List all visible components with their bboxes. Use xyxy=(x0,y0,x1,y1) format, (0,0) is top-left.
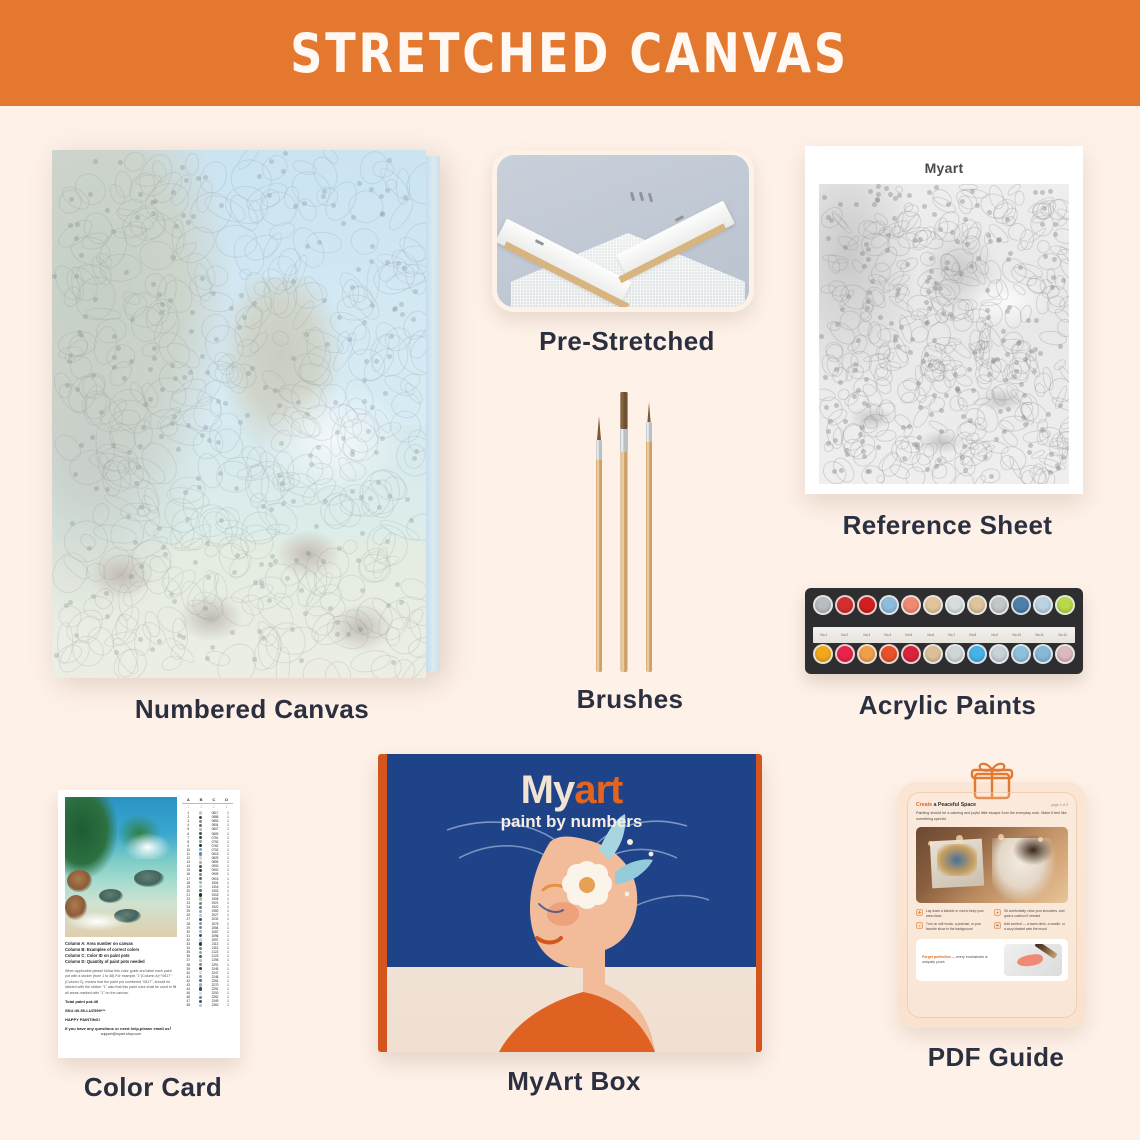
canvas-number-segments xyxy=(52,150,426,678)
tip-icon: ♪ xyxy=(916,922,923,929)
cell-color-swatch xyxy=(194,959,206,962)
cell-color-swatch xyxy=(194,832,206,835)
paint-tray: No.1No.2No.3No.4No.5No.6No.7No.8No.9No.1… xyxy=(805,588,1083,674)
caption-acrylic-paints: Acrylic Paints xyxy=(805,690,1090,721)
paint-pot xyxy=(857,644,877,664)
brushes-image xyxy=(545,382,715,672)
paint-pot-label: No.6 xyxy=(927,633,934,637)
cell-color-swatch xyxy=(194,987,206,990)
pdf-guide-page: Create a Peaceful Space page 1 of 3 Pain… xyxy=(907,792,1077,1018)
paint-pot xyxy=(923,644,943,664)
cell-color-swatch xyxy=(194,922,206,925)
pdf-tip-item: ✦Sit comfortably, relax your shoulders, … xyxy=(994,909,1067,919)
photo-bokeh xyxy=(1038,837,1043,842)
cell-color-swatch xyxy=(194,992,206,995)
cell-color-swatch xyxy=(194,906,206,909)
color-card-left-column: Column A: Area number on canvas Column B… xyxy=(65,797,177,1051)
cell-color-swatch xyxy=(194,951,206,954)
pdf-heading-accent: Create xyxy=(916,802,932,808)
caption-numbered-canvas: Numbered Canvas xyxy=(52,694,452,725)
brush-flat xyxy=(617,390,629,672)
product-acrylic-paints: No.1No.2No.3No.4No.5No.6No.7No.8No.9No.1… xyxy=(805,588,1090,721)
paint-pot-label: No.10 xyxy=(1012,633,1021,637)
cell-quantity: 1 xyxy=(223,1003,233,1007)
cell-color-swatch xyxy=(194,893,206,896)
color-card-paper: Column A: Area number on canvas Column B… xyxy=(58,790,240,1058)
logo-art-text: art xyxy=(574,768,622,812)
product-color-card: Column A: Area number on canvas Column B… xyxy=(58,790,248,1103)
photo-rock xyxy=(134,870,163,887)
cell-color-swatch xyxy=(194,938,206,941)
photo-artwork xyxy=(937,844,977,876)
box-tagline: paint by numbers xyxy=(387,812,756,832)
tip-icon: ✦ xyxy=(994,909,1001,916)
arrow-down-icon: ↓ xyxy=(220,805,233,810)
happy-painting-text: HAPPY PAINTING! xyxy=(65,1017,177,1023)
canvas-image xyxy=(52,150,440,678)
brush-round-small xyxy=(593,414,605,672)
product-reference-sheet: Myart Reference Sheet xyxy=(805,146,1090,541)
tip-text: Sit comfortably, relax your shoulders, a… xyxy=(1004,909,1067,919)
cell-color-swatch xyxy=(194,1000,206,1003)
table-header-row: A B C D xyxy=(182,797,233,804)
color-card-row: 4823631 xyxy=(182,1003,233,1007)
cell-color-swatch xyxy=(194,955,206,958)
cell-area-number: 48 xyxy=(182,1003,194,1007)
reference-sheet-paper: Myart xyxy=(805,146,1083,494)
total-paint-pot: Total paint pot:48 xyxy=(65,999,177,1005)
box-logo: Myart xyxy=(387,768,756,813)
paint-pot-label: No.12 xyxy=(1059,633,1068,637)
paint-pot xyxy=(1011,595,1031,615)
reference-sheet-artwork xyxy=(819,184,1069,484)
cell-color-swatch xyxy=(194,828,206,831)
box-spine-right xyxy=(756,754,762,1052)
support-email: support@myart-shop.com xyxy=(65,1032,177,1037)
canvas-wrapped-edge xyxy=(425,156,440,672)
brush-svg xyxy=(617,390,631,672)
photo-bokeh xyxy=(998,834,1004,840)
pdf-photo xyxy=(916,827,1068,903)
cell-color-swatch xyxy=(194,1004,206,1007)
paint-pot xyxy=(1055,644,1075,664)
photo-tree-region xyxy=(65,797,117,878)
paint-pot xyxy=(813,595,833,615)
paint-pot xyxy=(879,644,899,664)
cell-color-swatch xyxy=(194,910,206,913)
staple-icon xyxy=(648,193,653,202)
cell-color-swatch xyxy=(194,897,206,900)
paint-pot xyxy=(967,644,987,664)
paint-pot-label: No.2 xyxy=(842,633,849,637)
cell-color-swatch xyxy=(194,820,206,823)
canvas-face xyxy=(52,150,426,678)
col-header-b: B xyxy=(195,797,208,802)
product-pdf-guide: Create a Peaceful Space page 1 of 3 Pain… xyxy=(898,782,1094,1073)
cell-color-swatch xyxy=(194,840,206,843)
cell-color-swatch xyxy=(194,934,206,937)
paint-pot xyxy=(1033,644,1053,664)
cell-color-swatch xyxy=(194,844,206,847)
paint-pot xyxy=(989,595,1009,615)
photo-foam xyxy=(67,912,127,932)
brush-liner xyxy=(643,402,655,672)
cell-color-swatch xyxy=(194,902,206,905)
tip-text: Turn on soft music, a podcast, or your f… xyxy=(926,922,989,932)
page-header: STRETCHED CANVAS xyxy=(0,0,1140,106)
paint-pot xyxy=(945,595,965,615)
pdf-tips-list: ❖Lay down a blanket or mat to keep your … xyxy=(916,909,1068,932)
cell-color-swatch xyxy=(194,947,206,950)
tip-text: Lay down a blanket or mat to keep your a… xyxy=(926,909,989,919)
pdf-guide-card: Create a Peaceful Space page 1 of 3 Pain… xyxy=(898,782,1086,1028)
cell-color-swatch xyxy=(194,865,206,868)
tip-icon: ❖ xyxy=(916,909,923,916)
paint-pot xyxy=(1033,595,1053,615)
cell-color-swatch xyxy=(194,885,206,888)
cell-color-swatch xyxy=(194,856,206,859)
cell-color-swatch xyxy=(194,996,206,999)
paint-pot xyxy=(923,595,943,615)
paint-pot-label: No.7 xyxy=(948,633,955,637)
caption-pre-stretched: Pre-Stretched xyxy=(492,326,762,357)
cell-color-swatch xyxy=(194,816,206,819)
cell-color-swatch xyxy=(194,877,206,880)
pdf-footer-thumb xyxy=(1004,944,1062,976)
product-brushes: Brushes xyxy=(545,382,715,715)
paint-pot-label: No.5 xyxy=(906,633,913,637)
paint-pot xyxy=(1011,644,1031,664)
product-pre-stretched: Pre-Stretched xyxy=(492,150,762,357)
tip-text: Add comfort — a warm drink, a candle, or… xyxy=(1004,922,1067,932)
cell-color-swatch xyxy=(194,889,206,892)
myart-box-image: Myart paint by numbers xyxy=(378,754,762,1052)
col-header-c: C xyxy=(208,797,221,802)
cell-color-swatch xyxy=(194,848,206,851)
cell-color-swatch xyxy=(194,861,206,864)
cell-color-swatch xyxy=(194,930,206,933)
sku-code: SKU:40-50-LUZ999*** xyxy=(65,1008,177,1014)
color-card-legend: Column A: Area number on canvas Column B… xyxy=(65,941,177,1038)
paint-pot xyxy=(989,644,1009,664)
page-title: STRETCHED CANVAS xyxy=(291,22,850,85)
caption-brushes: Brushes xyxy=(545,684,715,715)
caption-color-card: Color Card xyxy=(58,1072,248,1103)
paint-pot xyxy=(901,595,921,615)
legend-note: When applicable,please follow this color… xyxy=(65,969,177,997)
myart-logo-text: Myart xyxy=(819,160,1069,176)
cell-color-swatch xyxy=(194,811,206,814)
pdf-footer-bold: Forget perfection xyxy=(922,955,951,959)
brush-svg xyxy=(643,402,655,672)
arrow-down-icon: ↓ xyxy=(208,805,221,810)
paint-pot-label: No.11 xyxy=(1036,633,1044,637)
paint-pot xyxy=(835,644,855,664)
cell-color-swatch xyxy=(194,824,206,827)
cell-color-swatch xyxy=(194,979,206,982)
paint-pot xyxy=(835,595,855,615)
pdf-tip-item: ❖Lay down a blanket or mat to keep your … xyxy=(916,909,989,919)
staple-icon xyxy=(630,192,635,201)
cell-color-swatch xyxy=(194,926,206,929)
ref-number-segments xyxy=(819,184,1069,484)
caption-pdf-guide: PDF Guide xyxy=(898,1042,1094,1073)
cell-color-swatch xyxy=(194,836,206,839)
product-myart-box: Myart paint by numbers xyxy=(378,754,770,1097)
logo-my-text: My xyxy=(521,768,575,812)
thumb-paint-blob xyxy=(1016,953,1043,968)
photo-rock xyxy=(99,889,124,903)
cell-color-swatch xyxy=(194,852,206,855)
cell-color-swatch xyxy=(194,983,206,986)
paint-pot-label: No.9 xyxy=(991,633,998,637)
pdf-heading-row: Create a Peaceful Space page 1 of 3 xyxy=(916,802,1068,808)
table-body: 1081712088813085314080415080716080917079… xyxy=(182,811,233,1008)
cell-color-id: 2363 xyxy=(207,1003,223,1007)
pre-stretched-photo xyxy=(492,150,754,312)
photo-cloud-region xyxy=(125,833,170,858)
photo-rock xyxy=(67,870,92,892)
photo-person-hair xyxy=(1013,835,1053,865)
box-front-panel: Myart paint by numbers xyxy=(387,754,756,1052)
brush-svg xyxy=(593,414,605,672)
pdf-heading: Create a Peaceful Space xyxy=(916,802,976,808)
cell-color-swatch xyxy=(194,963,206,966)
pdf-heading-rest: a Peaceful Space xyxy=(932,802,976,808)
paint-pot xyxy=(901,644,921,664)
cell-color-swatch xyxy=(194,942,206,945)
arrow-down-icon: ↓ xyxy=(182,805,195,810)
cell-color-swatch xyxy=(194,918,206,921)
col-header-a: A xyxy=(182,797,195,802)
paint-pot xyxy=(1055,595,1075,615)
caption-reference-sheet: Reference Sheet xyxy=(805,510,1090,541)
paint-pot xyxy=(967,595,987,615)
photo-bokeh xyxy=(956,835,963,842)
col-header-d: D xyxy=(220,797,233,802)
staple-icon xyxy=(639,192,644,201)
paint-pot-label: No.1 xyxy=(820,633,827,637)
color-card-table: A B C D ↓ ↓ ↓ ↓ 108171208881308531408041… xyxy=(182,797,233,1051)
pdf-footer-callout: Forget perfection — every brushstroke is… xyxy=(916,939,1068,981)
paint-pot xyxy=(879,595,899,615)
cell-color-swatch xyxy=(194,967,206,970)
pdf-page-label: page 1 of 3 xyxy=(1051,803,1068,807)
cell-color-swatch xyxy=(194,975,206,978)
table-arrow-row: ↓ ↓ ↓ ↓ xyxy=(182,805,233,810)
paint-pot-row-bottom xyxy=(813,644,1075,675)
paint-pot-row-top xyxy=(813,595,1075,626)
cell-color-swatch xyxy=(194,971,206,974)
box-spine-left xyxy=(378,754,387,1052)
paint-pot xyxy=(945,644,965,664)
product-numbered-canvas: Numbered Canvas xyxy=(52,150,452,725)
cell-color-swatch xyxy=(194,881,206,884)
pdf-tip-item: ♪Turn on soft music, a podcast, or your … xyxy=(916,922,989,932)
cell-color-swatch xyxy=(194,914,206,917)
paint-pot xyxy=(813,644,833,664)
caption-myart-box: MyArt Box xyxy=(378,1066,770,1097)
tip-icon: ☕ xyxy=(994,922,1001,929)
pdf-footer-text: Forget perfection — every brushstroke is… xyxy=(922,955,999,966)
paint-pot-label: No.4 xyxy=(884,633,891,637)
paint-pot-label: No.8 xyxy=(970,633,977,637)
paint-pot xyxy=(857,595,877,615)
paint-pot-label: No.3 xyxy=(863,633,870,637)
paint-tray-label-strip: No.1No.2No.3No.4No.5No.6No.7No.8No.9No.1… xyxy=(813,627,1075,643)
legend-column-d: Column D: Quantity of paint pots needed xyxy=(65,959,177,965)
cell-color-swatch xyxy=(194,873,206,876)
cell-color-swatch xyxy=(194,869,206,872)
pdf-subtext: Painting should be a calming and joyful … xyxy=(916,811,1068,822)
color-card-reference-photo xyxy=(65,797,177,937)
pdf-tip-item: ☕Add comfort — a warm drink, a candle, o… xyxy=(994,922,1067,932)
arrow-down-icon: ↓ xyxy=(195,805,208,810)
